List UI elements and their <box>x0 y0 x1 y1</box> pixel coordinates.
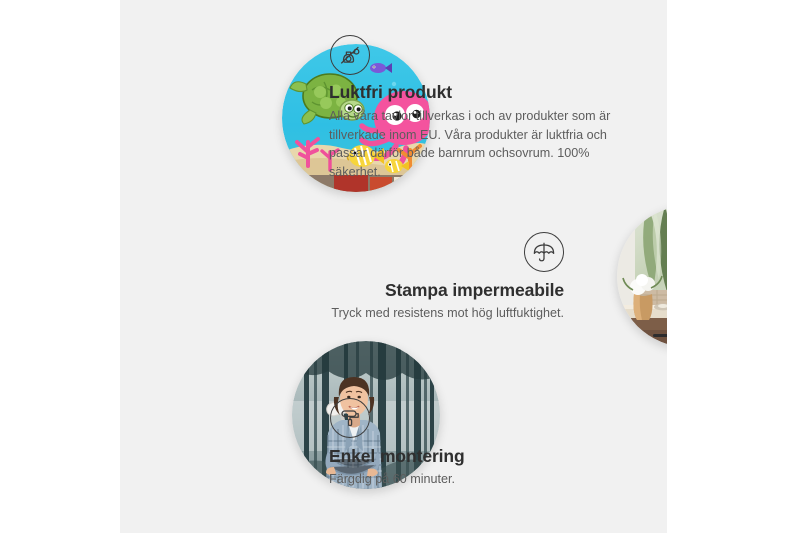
screenshot-stage: Luktfri produkt Alla våra tavlor tillver… <box>0 0 800 533</box>
feature-block-stampa-impermeabile: Stampa impermeabile Tryck med resistens … <box>220 232 564 323</box>
product-feature-panel: Luktfri produkt Alla våra tavlor tillver… <box>120 0 667 533</box>
feature-body: Alla våra tavlor tillverkas i och av pro… <box>329 107 634 182</box>
feature-body: Färgdig på 60 minuter. <box>329 470 629 489</box>
no-odor-perfume-bottle-icon <box>330 35 370 75</box>
feature-title: Luktfri produkt <box>329 82 634 103</box>
feature-title: Enkel montering <box>329 446 629 467</box>
feature-title: Stampa impermeabile <box>220 280 564 301</box>
feature-block-enkel-montering: Enkel montering Färgdig på 60 minuter. <box>329 398 629 489</box>
feature-block-luktfri-produkt: Luktfri produkt Alla våra tavlor tillver… <box>329 35 634 182</box>
bathroom-leaf-wallpaper-photo <box>617 206 667 347</box>
feature-body: Tryck med resistens mot hög luftfuktighe… <box>220 304 564 323</box>
umbrella-icon <box>524 232 564 272</box>
paint-roller-icon <box>330 398 370 438</box>
